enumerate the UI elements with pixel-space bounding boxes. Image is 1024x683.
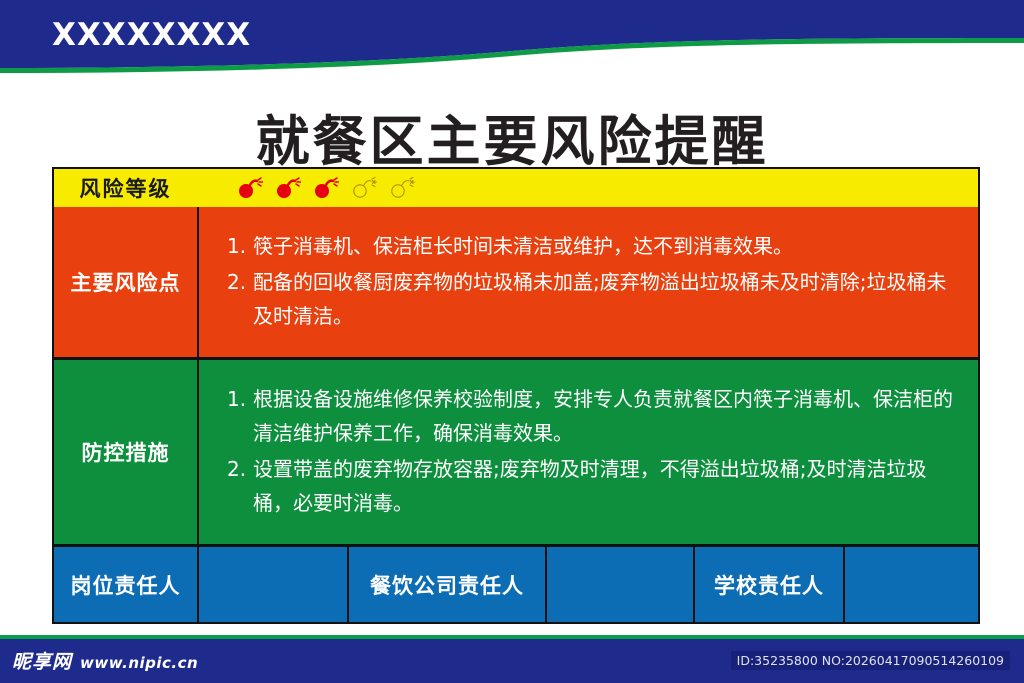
list-item-text: 根据设备设施维修保养校验制度，安排专人负责就餐区内筷子消毒机、保洁柜的清洁维护保… bbox=[253, 382, 958, 450]
bomb-icon bbox=[313, 177, 339, 199]
image-id-text: ID:35235800 NO:20260417090514260109 bbox=[731, 651, 1010, 670]
table-row-risk-points: 主要风险点 1. 筷子消毒机、保洁柜长时间未清洁或维护，达不到消毒效果。 2. … bbox=[54, 207, 978, 357]
catering-company-responsible-label: 餐饮公司责任人 bbox=[349, 547, 545, 622]
list-item: 2. 设置带盖的废弃物存放容器;废弃物及时清理，不得溢出垃圾桶;及时清洁垃圾桶，… bbox=[227, 452, 958, 520]
measures-content: 1. 根据设备设施维修保养校验制度，安排专人负责就餐区内筷子消毒机、保洁柜的清洁… bbox=[199, 360, 978, 544]
risk-notice-table: 风险等级 bbox=[52, 167, 980, 624]
table-row-responsible-persons: 岗位责任人 餐饮公司责任人 学校责任人 bbox=[54, 547, 978, 622]
list-item-text: 配备的回收餐厨废弃物的垃圾桶未加盖;废弃物溢出垃圾桶未及时清除;垃圾桶未及时清洁… bbox=[253, 265, 958, 333]
list-item-text: 设置带盖的废弃物存放容器;废弃物及时清理，不得溢出垃圾桶;及时清洁垃圾桶，必要时… bbox=[253, 452, 958, 520]
risk-points-list: 1. 筷子消毒机、保洁柜长时间未清洁或维护，达不到消毒效果。 2. 配备的回收餐… bbox=[227, 229, 958, 333]
catering-company-responsible-value[interactable] bbox=[547, 547, 693, 622]
footer-accent-line bbox=[0, 635, 1024, 639]
site-logo-mark: 昵享网 bbox=[12, 647, 72, 674]
table-row-measures: 防控措施 1. 根据设备设施维修保养校验制度，安排专人负责就餐区内筷子消毒机、保… bbox=[54, 360, 978, 544]
page-footer: 昵享网 www.nipic.cn ID:35235800 NO:20260417… bbox=[0, 635, 1024, 683]
list-item: 1. 根据设备设施维修保养校验制度，安排专人负责就餐区内筷子消毒机、保洁柜的清洁… bbox=[227, 382, 958, 450]
measures-label: 防控措施 bbox=[54, 360, 197, 544]
risk-level-label: 风险等级 bbox=[54, 169, 197, 207]
site-logo[interactable]: 昵享网 www.nipic.cn bbox=[12, 647, 198, 674]
measures-list: 1. 根据设备设施维修保养校验制度，安排专人负责就餐区内筷子消毒机、保洁柜的清洁… bbox=[227, 382, 958, 520]
bomb-icon bbox=[237, 177, 263, 199]
list-item-number: 2. bbox=[227, 452, 253, 520]
list-item-number: 1. bbox=[227, 382, 253, 450]
bomb-icon-empty bbox=[389, 177, 415, 199]
table-row-risk-level: 风险等级 bbox=[54, 169, 978, 207]
bomb-icon-empty bbox=[351, 177, 377, 199]
organization-name: XXXXXXXX bbox=[52, 17, 251, 53]
risk-points-label: 主要风险点 bbox=[54, 207, 197, 357]
list-item-number: 2. bbox=[227, 265, 253, 333]
list-item-text: 筷子消毒机、保洁柜长时间未清洁或维护，达不到消毒效果。 bbox=[253, 229, 958, 263]
school-responsible-label: 学校责任人 bbox=[695, 547, 843, 622]
page-header: XXXXXXXX bbox=[0, 0, 1024, 75]
list-item-number: 1. bbox=[227, 229, 253, 263]
site-logo-url: www.nipic.cn bbox=[80, 654, 198, 672]
bomb-icon bbox=[275, 177, 301, 199]
post-responsible-value[interactable] bbox=[199, 547, 347, 622]
risk-points-content: 1. 筷子消毒机、保洁柜长时间未清洁或维护，达不到消毒效果。 2. 配备的回收餐… bbox=[199, 207, 978, 357]
school-responsible-value[interactable] bbox=[845, 547, 978, 622]
risk-level-rating bbox=[197, 169, 978, 207]
post-responsible-label: 岗位责任人 bbox=[54, 547, 197, 622]
list-item: 2. 配备的回收餐厨废弃物的垃圾桶未加盖;废弃物溢出垃圾桶未及时清除;垃圾桶未及… bbox=[227, 265, 958, 333]
list-item: 1. 筷子消毒机、保洁柜长时间未清洁或维护，达不到消毒效果。 bbox=[227, 229, 958, 263]
page-title: 就餐区主要风险提醒 bbox=[0, 97, 1024, 176]
